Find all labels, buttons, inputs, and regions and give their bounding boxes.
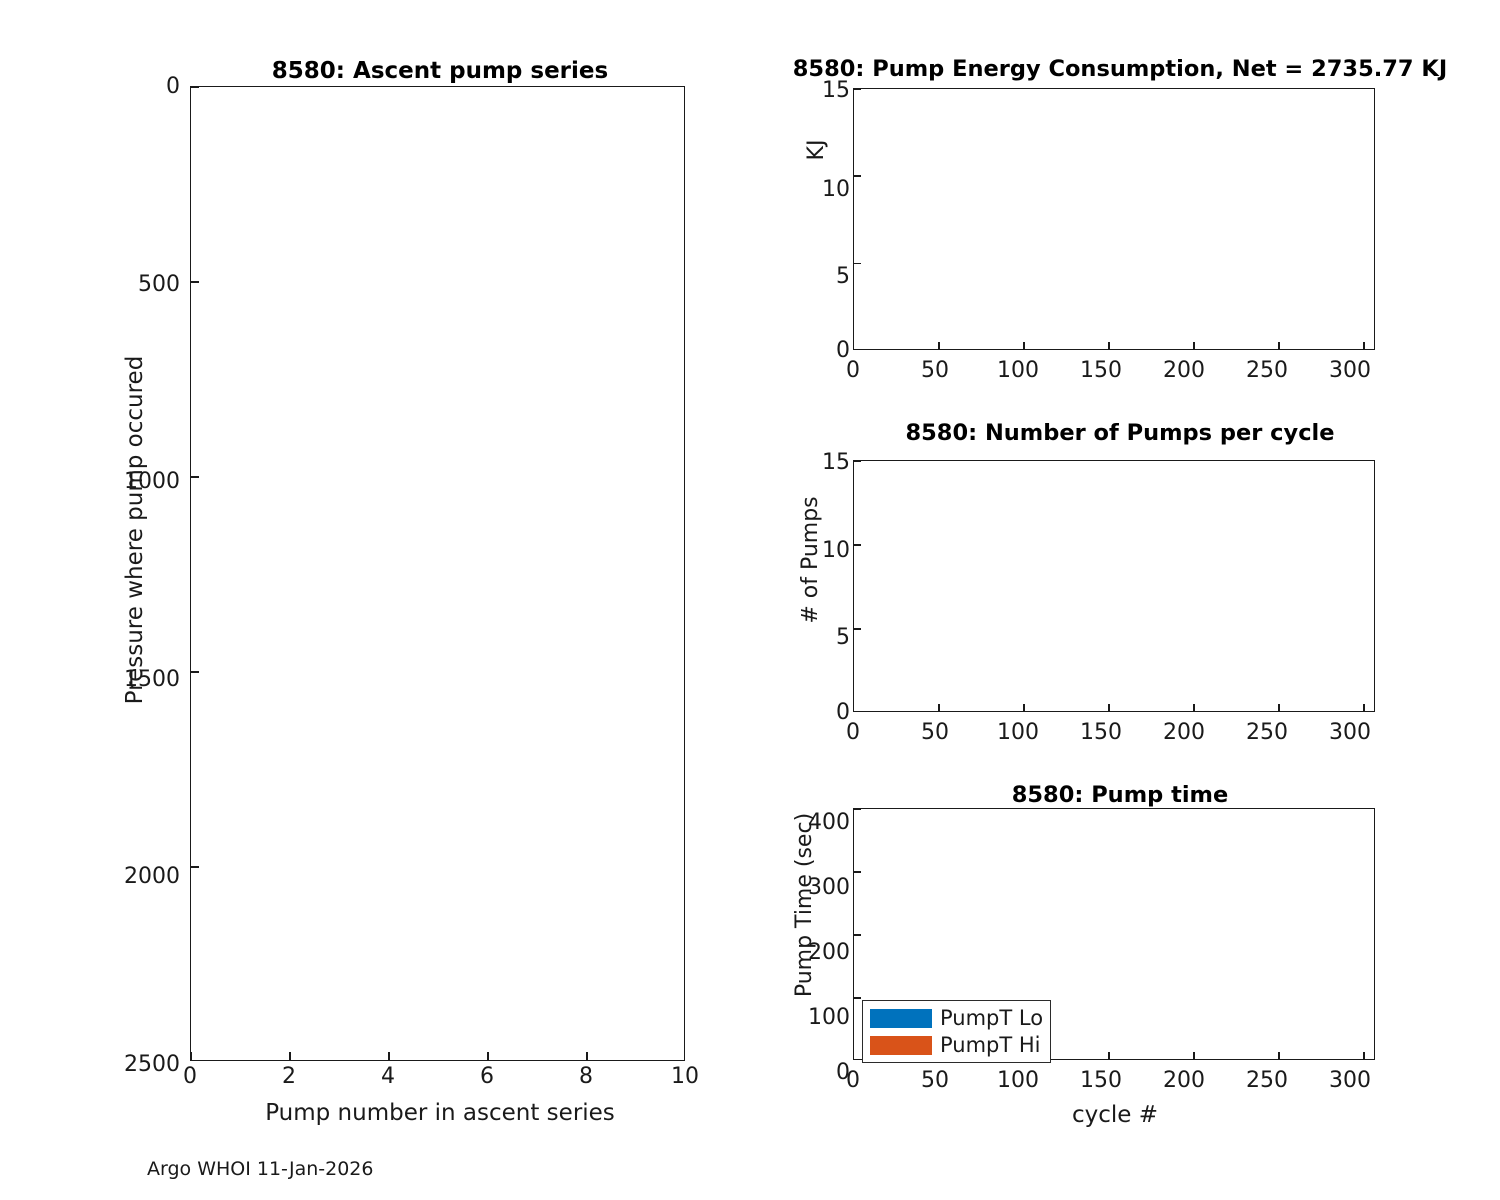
energy-panel-title: 8580: Pump Energy Consumption, Net = 273… — [750, 56, 1490, 82]
ascent-y-axis-label: Pressure where pump occured — [122, 80, 148, 980]
energy-xtickmark — [1278, 342, 1280, 350]
pumps-ytick-10: 10 — [770, 538, 850, 563]
pumps-axes-frame — [853, 460, 1375, 712]
legend-swatch-pumpt-hi — [870, 1036, 932, 1055]
pumptime-xtick-100: 100 — [993, 1068, 1043, 1093]
pumps-xtickmark — [1023, 704, 1025, 712]
ascent-xtickmark — [487, 1052, 489, 1061]
pumps-ytickmark — [853, 628, 861, 630]
pumps-panel-title: 8580: Number of Pumps per cycle — [790, 420, 1450, 446]
ascent-xtick-4: 4 — [358, 1064, 418, 1089]
ascent-panel-title: 8580: Ascent pump series — [190, 58, 690, 84]
pumps-ytick-15: 15 — [770, 450, 850, 475]
pumptime-xtick-150: 150 — [1076, 1068, 1126, 1093]
pumptime-ytick-100: 100 — [760, 1005, 850, 1030]
energy-ytickmark — [853, 175, 861, 177]
pumptime-xtickmark — [1108, 1052, 1110, 1060]
ascent-ytick-0: 0 — [90, 74, 180, 99]
energy-ytick-10: 10 — [770, 177, 850, 202]
ascent-ytickmark — [190, 476, 199, 478]
legend-label-pumpt-hi: PumpT Hi — [940, 1033, 1041, 1057]
energy-axes-frame — [853, 88, 1375, 350]
ascent-ytick-500: 500 — [90, 272, 180, 297]
pumptime-ytickmark — [853, 871, 861, 873]
ascent-xtickmark — [190, 1052, 192, 1061]
panel-ascent-pump-series: 8580: Ascent pump series Pressure where … — [0, 0, 740, 1160]
ascent-xtickmark — [388, 1052, 390, 1061]
legend-row-pumpt-lo: PumpT Lo — [870, 1006, 1043, 1030]
energy-ytick-5: 5 — [770, 264, 850, 289]
pumptime-ytickmark — [853, 808, 861, 810]
ascent-ytick-1500: 1500 — [90, 667, 180, 692]
pumps-xtickmark — [1108, 704, 1110, 712]
ascent-ytick-2000: 2000 — [90, 864, 180, 889]
legend-label-pumpt-lo: PumpT Lo — [940, 1006, 1043, 1030]
pumps-xtickmark — [1278, 704, 1280, 712]
ascent-xtick-6: 6 — [457, 1064, 517, 1089]
pumps-ytick-5: 5 — [770, 625, 850, 650]
pumptime-legend: PumpT Lo PumpT Hi — [862, 1000, 1051, 1063]
ascent-xtick-2: 2 — [259, 1064, 319, 1089]
footer-credit: Argo WHOI 11-Jan-2026 — [147, 1158, 373, 1180]
pumptime-xtick-300: 300 — [1325, 1068, 1375, 1093]
energy-xtickmark — [938, 342, 940, 350]
ascent-xtickmark — [289, 1052, 291, 1061]
pumps-ytickmark — [853, 544, 861, 546]
pumptime-ytick-300: 300 — [760, 875, 850, 900]
pumptime-xtick-250: 250 — [1242, 1068, 1292, 1093]
panel-pump-energy: 8580: Pump Energy Consumption, Net = 273… — [740, 0, 1500, 390]
pumps-xtickmark — [938, 704, 940, 712]
pumptime-ytick-200: 200 — [760, 940, 850, 965]
ascent-xtick-0: 0 — [160, 1064, 220, 1089]
ascent-ytickmark — [190, 281, 199, 283]
panel-pump-time: 8580: Pump time Pump Time (sec) cycle # … — [740, 720, 1500, 1200]
pumptime-xtick-50: 50 — [910, 1068, 960, 1093]
energy-xtickmark — [1108, 342, 1110, 350]
energy-xtickmark — [1363, 342, 1365, 350]
ascent-ytickmark — [190, 86, 199, 88]
pumptime-ytickmark — [853, 934, 861, 936]
pumptime-x-axis-label: cycle # — [850, 1102, 1380, 1128]
pumptime-ytickmark — [853, 997, 861, 999]
energy-xtickmark — [1193, 342, 1195, 350]
pumps-xtickmark — [1193, 704, 1195, 712]
ascent-x-axis-label: Pump number in ascent series — [190, 1100, 690, 1126]
pumps-ytickmark — [853, 460, 861, 462]
pumptime-ytick-400: 400 — [760, 810, 850, 835]
pumptime-xtick-0: 0 — [828, 1068, 878, 1093]
ascent-xtick-10: 10 — [655, 1064, 715, 1089]
energy-ytick-15: 15 — [770, 78, 850, 103]
legend-swatch-pumpt-lo — [870, 1009, 932, 1028]
argo-pump-figure: 8580: Ascent pump series Pressure where … — [0, 0, 1500, 1200]
pumptime-xtick-200: 200 — [1159, 1068, 1209, 1093]
pumptime-xtickmark — [1193, 1052, 1195, 1060]
legend-row-pumpt-hi: PumpT Hi — [870, 1033, 1043, 1057]
energy-ytickmark — [853, 88, 861, 90]
ascent-xtick-8: 8 — [556, 1064, 616, 1089]
pumptime-xtickmark — [1363, 1052, 1365, 1060]
ascent-ytick-1000: 1000 — [90, 469, 180, 494]
energy-ytickmark — [853, 263, 861, 265]
pumptime-xtickmark — [1278, 1052, 1280, 1060]
pumps-xtickmark — [1363, 704, 1365, 712]
energy-xtickmark — [1023, 342, 1025, 350]
panel-pumps-per-cycle: 8580: Number of Pumps per cycle # of Pum… — [740, 360, 1500, 750]
ascent-ytickmark — [190, 866, 199, 868]
ascent-xtickmark — [586, 1052, 588, 1061]
pumptime-panel-title: 8580: Pump time — [790, 782, 1450, 808]
ascent-axes-frame — [190, 86, 685, 1061]
ascent-ytickmark — [190, 671, 199, 673]
